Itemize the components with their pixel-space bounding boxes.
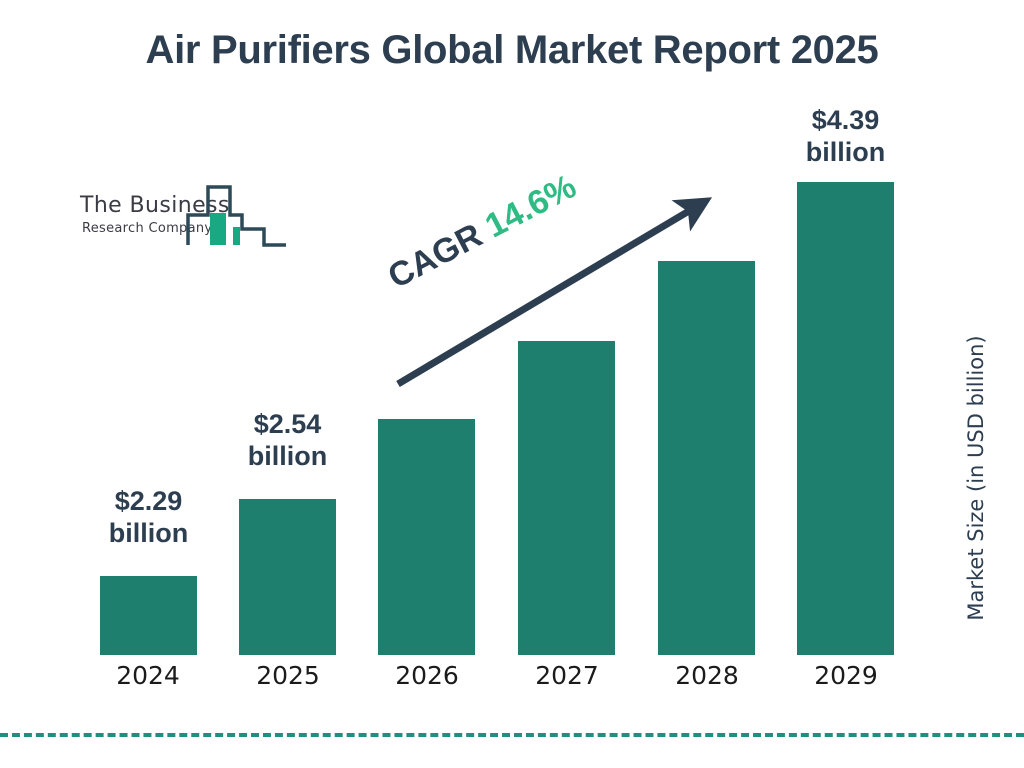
- cagr-label: CAGR: [382, 216, 488, 296]
- bar-2029[interactable]: [797, 182, 894, 655]
- bar-value-label-2025: $2.54 billion: [185, 409, 390, 473]
- chart-page: Air Purifiers Global Market Report 2025 …: [0, 0, 1024, 768]
- bar-2026[interactable]: [378, 419, 475, 655]
- bar-2025[interactable]: [239, 499, 336, 655]
- bar-value-label-2024: $2.29 billion: [46, 486, 251, 550]
- bar-value-label-2029: $4.39 billion: [743, 105, 948, 169]
- y-axis-title: Market Size (in USD billion): [964, 308, 988, 648]
- bottom-divider: [0, 733, 1024, 737]
- x-tick-label-2026: 2026: [377, 661, 477, 690]
- x-tick-label-2025: 2025: [238, 661, 338, 690]
- bar-2024[interactable]: [100, 576, 197, 655]
- x-tick-label-2027: 2027: [517, 661, 617, 690]
- bar-2027[interactable]: [518, 341, 615, 655]
- x-tick-label-2024: 2024: [98, 661, 198, 690]
- x-tick-label-2029: 2029: [796, 661, 896, 690]
- x-tick-label-2028: 2028: [657, 661, 757, 690]
- cagr-annotation: CAGR 14.6%: [382, 167, 583, 297]
- bar-2028[interactable]: [658, 261, 755, 655]
- cagr-value: 14.6%: [479, 167, 582, 245]
- bar-chart-plot-area: $2.29 billion 2024 $2.54 billion 2025 20…: [0, 0, 1024, 768]
